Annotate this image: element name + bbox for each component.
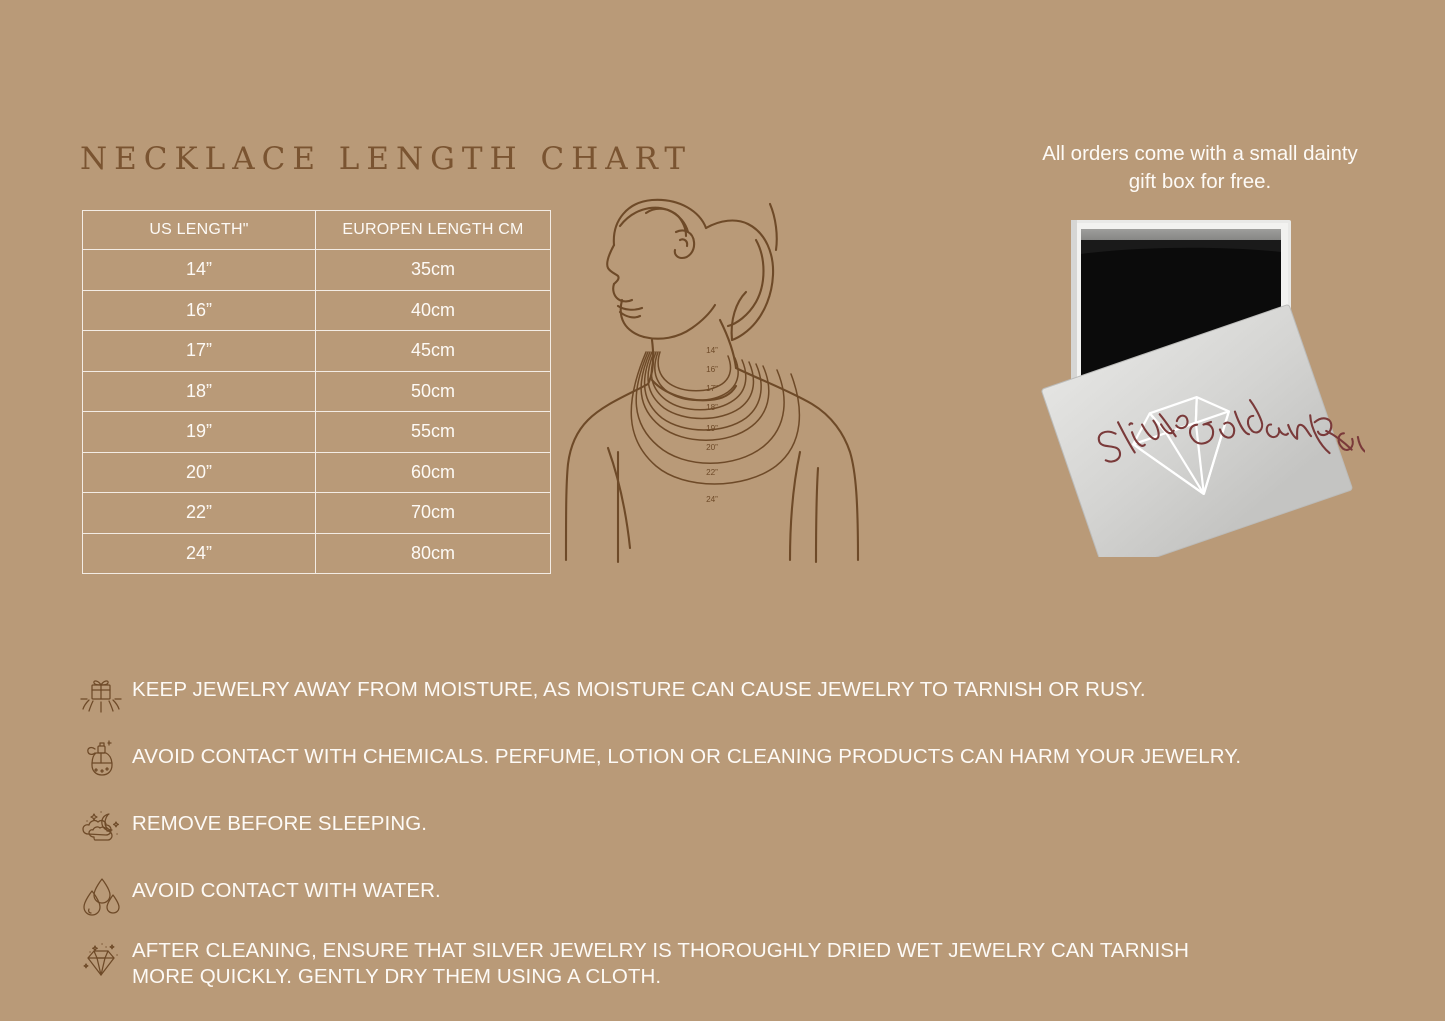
cell-eu-length: 40cm [316,290,551,331]
table-header-us-length: US LENGTH" [83,211,316,250]
cell-us-length: 20” [83,452,316,493]
model-illustration: 14” 16” 17” 18” 19” 20” 22” 24” [560,180,905,575]
table-row: 14” 35cm [83,250,551,291]
chain-label-19: 19” [706,424,718,433]
table-row: 24” 80cm [83,533,551,574]
cell-us-length: 22” [83,493,316,534]
table-row: 18” 50cm [83,371,551,412]
care-instruction-row: AVOID CONTACT WITH WATER. [70,869,1390,917]
cell-eu-length: 70cm [316,493,551,534]
cell-eu-length: 35cm [316,250,551,291]
table-row: 22” 70cm [83,493,551,534]
cell-us-length: 19” [83,412,316,453]
care-instruction-text: AVOID CONTACT WITH WATER. [132,869,441,904]
giftbox-caption: All orders come with a small dainty gift… [985,140,1415,196]
care-instruction-row: AVOID CONTACT WITH CHEMICALS. PERFUME, L… [70,735,1390,783]
table-header-eu-length: EUROPEN LENGTH CM [316,211,551,250]
care-instruction-row: AFTER CLEANING, ENSURE THAT SILVER JEWEL… [70,936,1390,990]
chain-label-22: 22” [706,468,718,477]
diamond-icon [70,936,132,984]
table-row: 17” 45cm [83,331,551,372]
table-row: 16” 40cm [83,290,551,331]
table-row: 20” 60cm [83,452,551,493]
cell-us-length: 18” [83,371,316,412]
care-instruction-row: REMOVE BEFORE SLEEPING. [70,802,1390,850]
table-header-row: US LENGTH" EUROPEN LENGTH CM [83,211,551,250]
chain-label-17: 17” [706,384,718,393]
table-row: 19” 55cm [83,412,551,453]
care-instruction-text: KEEP JEWELRY AWAY FROM MOISTURE, AS MOIS… [132,668,1146,703]
chain-label-20: 20” [706,443,718,452]
giftbox-image [1025,212,1365,557]
cell-eu-length: 50cm [316,371,551,412]
cell-us-length: 17” [83,331,316,372]
care-instruction-text: AFTER CLEANING, ENSURE THAT SILVER JEWEL… [132,936,1189,990]
giftbox-caption-line1: All orders come with a small dainty [985,140,1415,168]
size-conversion-table: US LENGTH" EUROPEN LENGTH CM 14” 35cm 16… [82,210,551,574]
care-instruction-row: KEEP JEWELRY AWAY FROM MOISTURE, AS MOIS… [70,668,1390,716]
chain-label-16: 16” [706,365,718,374]
cell-eu-length: 55cm [316,412,551,453]
necklace-size-guide-page: NECKLACE LENGTH CHART US LENGTH" EUROPEN… [0,0,1445,1021]
page-title: NECKLACE LENGTH CHART [80,141,692,177]
cell-eu-length: 60cm [316,452,551,493]
care-instruction-text: AVOID CONTACT WITH CHEMICALS. PERFUME, L… [132,735,1241,770]
moon-cloud-icon [70,802,132,850]
chain-label-24: 24” [706,495,718,504]
cell-eu-length: 80cm [316,533,551,574]
chain-label-14: 14” [706,346,718,355]
cell-us-length: 16” [83,290,316,331]
cell-eu-length: 45cm [316,331,551,372]
giftbox-caption-line2: gift box for free. [985,168,1415,196]
cell-us-length: 14” [83,250,316,291]
cell-us-length: 24” [83,533,316,574]
gift-box-icon [70,668,132,716]
chain-label-18: 18” [706,403,718,412]
care-instruction-text: REMOVE BEFORE SLEEPING. [132,802,427,837]
water-drops-icon [70,869,132,917]
perfume-bottle-icon [70,735,132,783]
care-instructions-list: KEEP JEWELRY AWAY FROM MOISTURE, AS MOIS… [70,668,1390,990]
